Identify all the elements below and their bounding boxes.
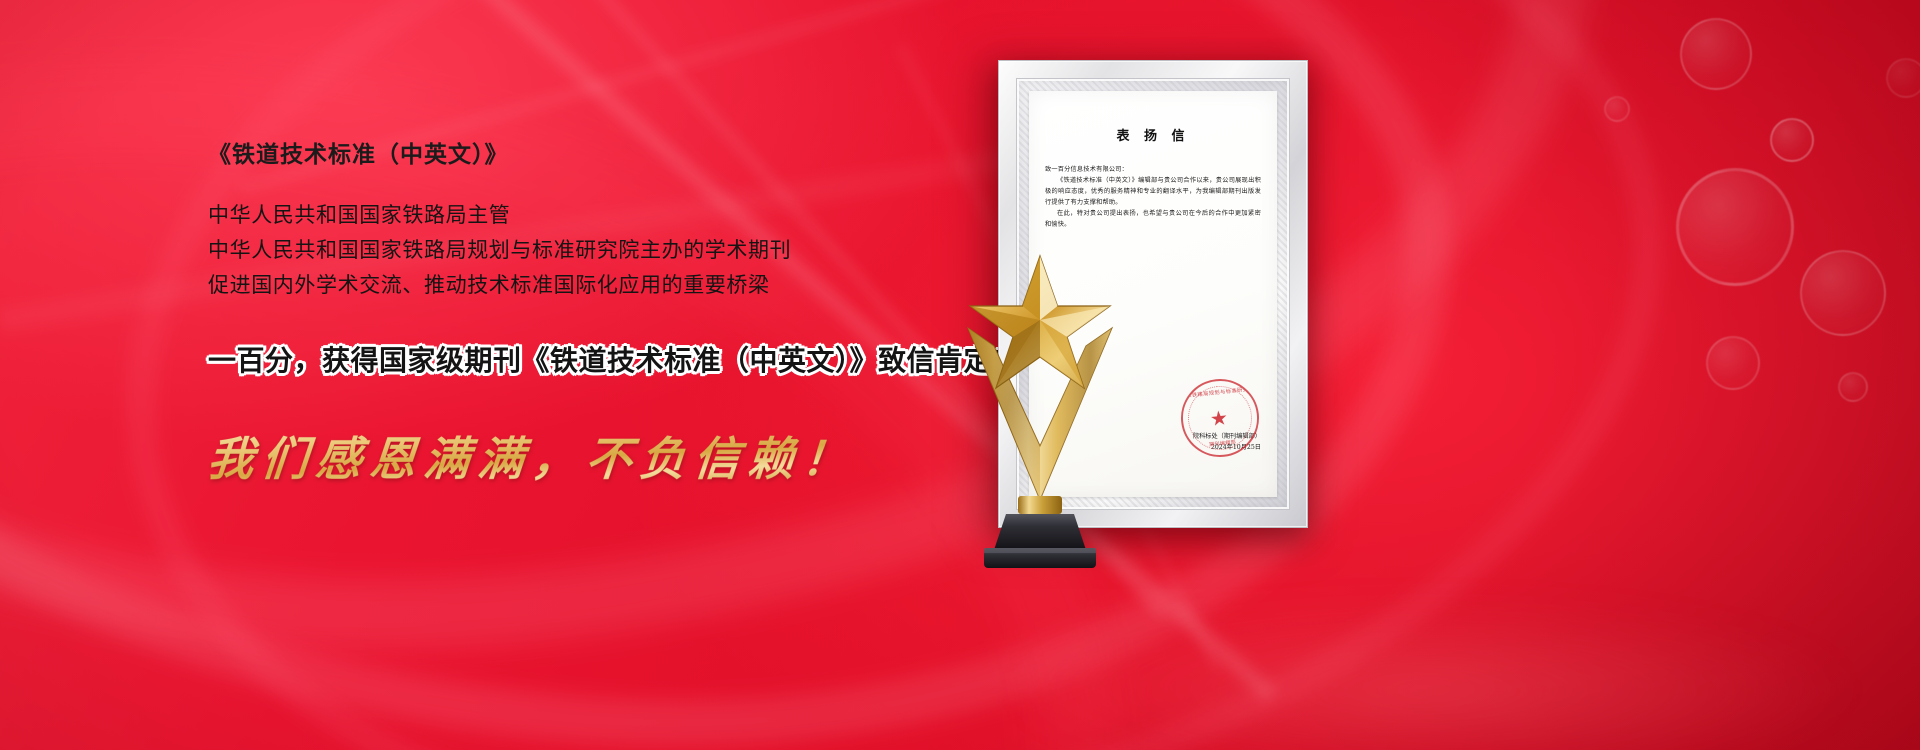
seal-star-icon: ★ xyxy=(1209,407,1231,429)
certificate-paragraph-1: 《铁道技术标准（中英文）》编辑部与贵公司合作以来，贵公司展现出积极的响应态度，优… xyxy=(1045,175,1261,208)
certificate-paragraph-2: 在此，特对贵公司提出表扬，也希望与贵公司在今后的合作中更加紧密和愉快。 xyxy=(1045,208,1261,230)
certificate-salutation: 致一百分信息技术有限公司： xyxy=(1045,164,1261,175)
certificate-title: 表 扬 信 xyxy=(1045,125,1261,144)
floor-glow xyxy=(1000,600,1860,750)
gold-star-trophy-icon xyxy=(910,250,1170,570)
banner-canvas: 《铁道技术标准（中英文）》 中华人民共和国国家铁路局主管 中华人民共和国国家铁路… xyxy=(0,0,1920,750)
